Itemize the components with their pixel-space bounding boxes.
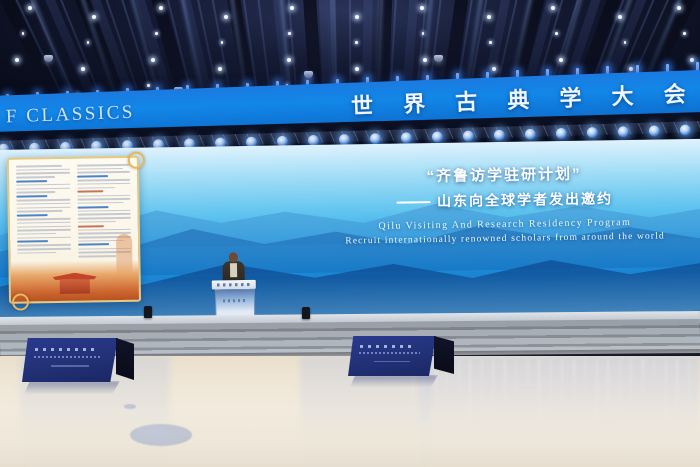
floor-socket-plate-small [124,404,136,409]
lectern-right [348,336,454,376]
document-text-line [76,164,130,166]
par-can-light [649,125,660,136]
headline-chinese-main: “齐鲁访学驻研计划” [321,161,687,188]
ceiling-spotlight [155,32,158,35]
document-columns [16,164,132,266]
document-text-line [17,210,63,212]
par-can-light [401,132,412,143]
ceiling-spotlight [555,32,558,35]
floor-reflection-streak [515,360,517,400]
floor-reflection-streak [504,360,506,408]
par-can-light [463,130,474,141]
document-text-line [17,218,71,220]
floor-reflection-streak [630,360,632,410]
floor-reflection-streak [607,360,609,426]
document-text-line [77,179,131,181]
floor-reflection-streak [653,360,655,394]
ceiling-spotlight [147,84,150,87]
headline-chinese-sub-text: 山东向全球学者发出邀约 [437,190,613,209]
par-can-light [370,133,381,144]
floor-reflection-streak [527,360,529,392]
floor-reflection-streak [596,360,598,434]
ceiling-spotlight [288,32,291,35]
ceiling-spotlight [422,32,425,35]
screen-headline-block: “齐鲁访学驻研计划” 山东向全球学者发出邀约 Qilu Visiting And… [321,161,688,247]
floor-reflection-streak [688,360,690,415]
document-text-line [78,255,117,257]
document-text-line [77,175,108,177]
document-text-line [16,191,55,193]
document-text-line [17,252,56,254]
par-can-light [556,128,567,139]
floor-reflection-streak [458,360,460,395]
floor-reflection-streak [573,360,575,405]
floor-reflection-streak [550,360,552,421]
ceiling-spotlight [683,32,686,35]
document-text-line [16,176,55,178]
scroll-ring-top-icon [128,152,145,169]
floor-microphone-left [144,306,152,318]
document-text-line [78,244,109,246]
document-text-line [77,225,104,227]
floor-socket-plate-large [130,424,192,446]
floor-reflection-streak [619,360,621,418]
document-text-line [77,217,131,219]
document-text-line [77,194,131,196]
floor-reflection-streak [492,360,494,416]
ceiling-can-light [304,71,313,78]
speaker-person [222,252,244,282]
ceiling-spotlight [551,6,555,10]
document-text-line [77,171,131,173]
floor-reflection-streak [469,360,471,432]
floor-microphone-right [302,307,310,319]
document-text-line [77,229,131,231]
document-text-line [17,206,71,208]
par-can-light [432,131,443,142]
document-text-line [16,195,47,197]
stage-photo: F CLASSICS 世 界 古 典 学 大 会 “齐鲁访学驻研计划” 山东向全… [0,0,700,467]
lectern-right-side [434,336,454,374]
document-text-line [17,225,71,227]
document-text-line [16,187,70,189]
headline-chinese-sub: 山东向全球学者发出邀约 [321,187,687,213]
ceiling-spotlight [87,41,90,44]
podium-nameplate-text [217,283,251,287]
ceiling-spotlight [677,6,681,10]
floor-reflection-streak [676,360,678,423]
document-text-line [16,168,70,170]
document-text-line [77,202,123,204]
document-text-line [17,214,48,216]
lectern-right-face [348,336,436,376]
document-text-line [77,210,131,212]
document-text-line [17,240,48,242]
lectern-right-reflection [350,375,438,387]
document-text-line [17,236,71,238]
ceiling-can-light [434,55,443,62]
lectern-left-english-text [34,356,101,358]
par-can-light [525,129,536,140]
lectern-right-english-text [359,352,421,354]
lectern-left-side [116,338,134,380]
document-text-line [17,244,71,246]
ceiling-spotlight [487,15,491,19]
document-text-line [77,198,131,200]
ceiling-spotlight [489,41,492,44]
par-can-light [587,127,598,138]
par-can-light [680,124,691,135]
program-document-scroll [7,156,141,304]
lectern-left-chinese-text [35,348,95,351]
lectern-right-subtext [374,361,409,363]
par-can-light [618,126,629,137]
document-text-line [16,172,70,174]
document-text-line [16,184,70,186]
document-column-left [16,165,71,266]
pagoda-icon [53,272,97,294]
ceiling-spotlight [224,15,228,19]
ceiling-spotlight [290,6,294,10]
floor-reflection-streak [561,360,563,413]
headline-dash [396,201,430,204]
speaker-shirt [230,263,237,277]
floor-reflection-streak [538,360,540,429]
document-text-line [77,206,108,208]
document-text-line [77,213,131,215]
document-text-line [16,180,47,182]
document-text-line [16,165,62,167]
lectern-left [22,338,134,382]
lectern-left-reflection [24,381,120,394]
par-can-light [494,130,505,141]
document-text-line [77,187,116,189]
document-text-line [77,183,131,185]
floor-reflection-right [420,356,700,467]
document-text-line [17,248,71,250]
document-text-line [16,199,70,201]
floor-reflection-streak [584,360,586,397]
lectern-right-chinese-text [360,345,415,348]
document-text-line [17,229,71,231]
document-text-line [17,233,56,235]
ceiling-spotlight [355,41,358,44]
ceiling-spotlight [624,41,627,44]
floor-reflection-streak [642,360,644,402]
document-text-line [77,191,104,193]
main-led-screen: “齐鲁访学驻研计划” 山东向全球学者发出邀约 Qilu Visiting And… [0,139,700,322]
document-text-line [16,203,70,205]
ceiling-can-light [44,55,53,62]
document-text-line [76,168,122,170]
lectern-left-face [22,338,118,382]
document-text-line [77,221,116,223]
speaker-head [229,252,238,262]
floor-reflection-streak [481,360,483,424]
ceiling-spotlight [22,32,25,35]
document-text-line [17,222,71,224]
lectern-left-subtext [51,365,89,367]
ceiling-spotlight [92,15,96,19]
banner-english-text: F CLASSICS [6,102,136,129]
headline-english-main: Qilu Visiting And Research Residency Pro… [322,216,688,233]
floor-reflection-streak [665,360,667,431]
